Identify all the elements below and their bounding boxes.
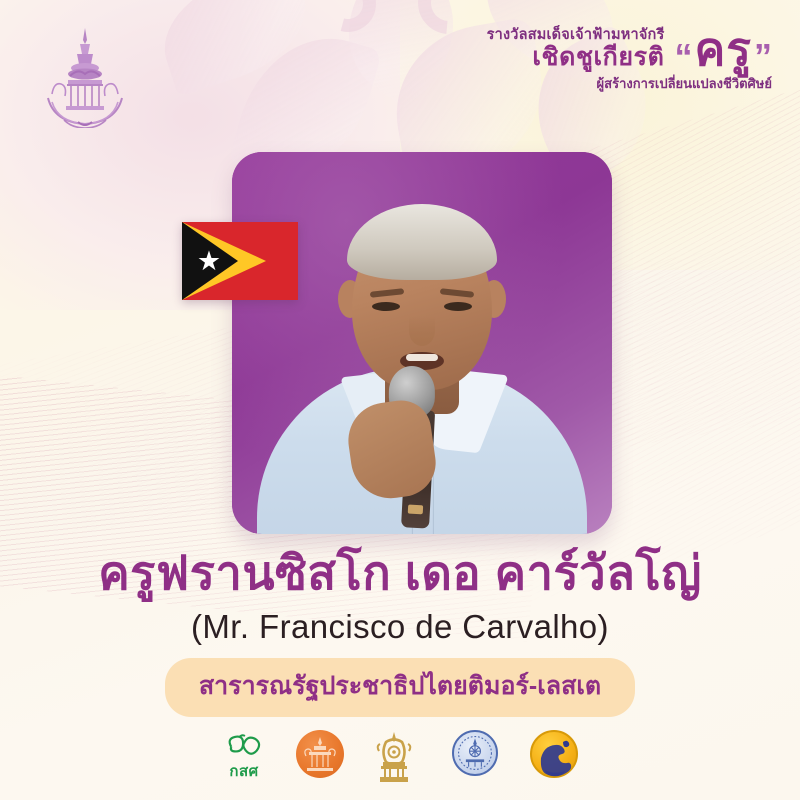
kru-highlight: “ ครู ” <box>675 26 772 72</box>
award-header: รางวัลสมเด็จเจ้าฟ้ามหาจักรี เชิดชูเกียรต… <box>442 26 772 90</box>
kru-word: ครู <box>695 26 752 72</box>
kosos-logo-label: กสศ <box>229 759 258 783</box>
orange-seal-logo <box>296 730 348 786</box>
recipient-name-thai: ครูฟรานซิสโก เดอ คาร์วัลโญ่ <box>0 548 800 597</box>
thai-royal-emblem-icon <box>38 24 132 128</box>
award-title-line2: เชิดชูเกียรติ <box>487 45 665 70</box>
award-title-line1: รางวัลสมเด็จเจ้าฟ้ามหาจักรี <box>487 28 665 43</box>
quote-open-icon: “ <box>675 46 693 68</box>
partner-logos: กสศ <box>0 730 800 786</box>
quote-close-icon: ” <box>754 46 772 68</box>
portrait-card <box>232 152 612 534</box>
recipient-name-english: (Mr. Francisco de Carvalho) <box>0 608 800 646</box>
award-subtitle: ผู้สร้างการเปลี่ยนแปลงชีวิตศิษย์ <box>442 77 772 90</box>
gold-throne-emblem-logo <box>374 730 426 786</box>
award-poster: รางวัลสมเด็จเจ้าฟ้ามหาจักรี เชิดชูเกียรต… <box>0 0 800 800</box>
country-badge-container: สารารณรัฐประชาธิปไตยติมอร์-เลสเต <box>0 658 800 717</box>
country-badge: สารารณรัฐประชาธิปไตยติมอร์-เลสเต <box>165 658 635 717</box>
kosos-logo: กสศ <box>218 730 270 786</box>
timor-leste-flag-icon: ★ <box>182 222 298 300</box>
teacher-portrait-image <box>232 152 612 534</box>
flag-star-icon: ★ <box>196 249 222 275</box>
gold-singha-seal-logo <box>530 730 582 786</box>
blue-seal-logo <box>452 730 504 786</box>
